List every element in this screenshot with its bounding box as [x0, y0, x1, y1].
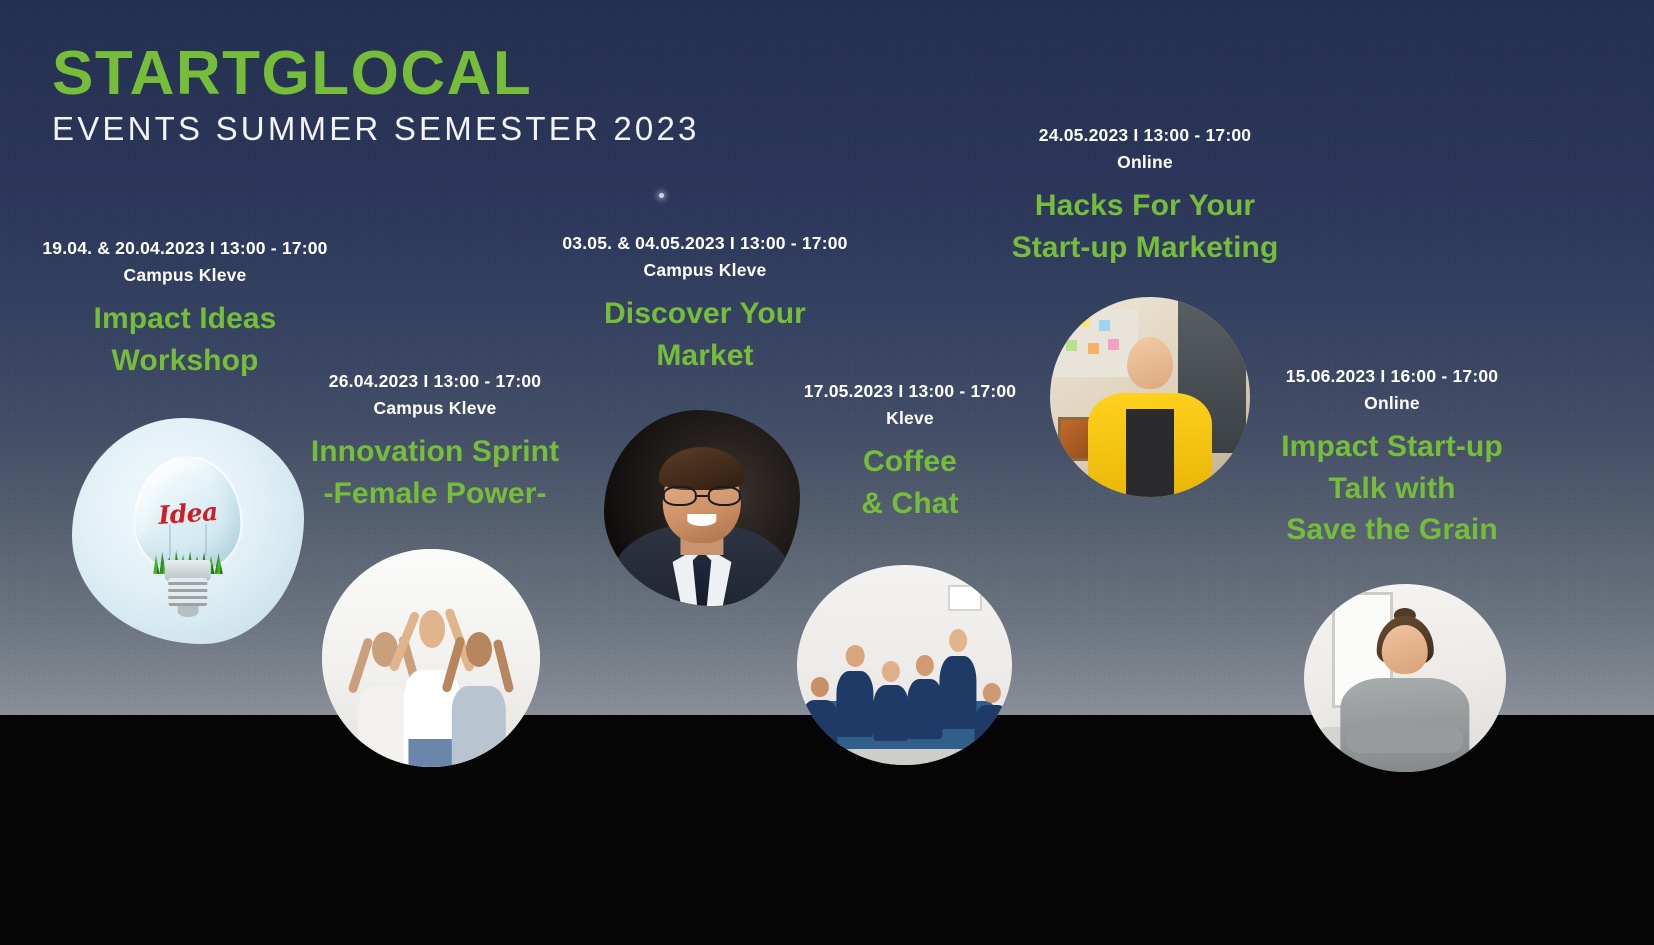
person-body	[940, 656, 977, 729]
brand-title: STARTGLOCAL	[52, 42, 700, 105]
sticky-note-board	[1054, 309, 1138, 377]
person-figure	[939, 629, 978, 729]
event-title: Discover Your Market	[535, 293, 875, 376]
person-body	[907, 679, 942, 739]
event-title-line: & Chat	[740, 483, 1080, 524]
person-head	[810, 677, 828, 697]
event-location: Campus Kleve	[265, 395, 605, 422]
person-head	[1382, 625, 1428, 674]
poster-header: STARTGLOCAL EVENTS SUMMER SEMESTER 2023	[52, 42, 700, 148]
sticky-note	[1079, 316, 1090, 327]
bulb-idea-label: Idea	[157, 497, 218, 530]
person-body	[974, 705, 1009, 749]
wall-picture-frame	[948, 585, 982, 611]
event-location: Campus Kleve	[15, 262, 355, 289]
bulb-tip-shape	[178, 606, 199, 617]
event-title-line: Impact Start-up	[1222, 426, 1562, 467]
event-title: Coffee & Chat	[740, 441, 1080, 524]
sticky-note	[1061, 317, 1072, 328]
bulb-filament-shape	[169, 524, 206, 556]
person-figure	[973, 683, 1010, 749]
event-impact-ideas-workshop[interactable]: 19.04. & 20.04.2023 I 13:00 - 17:00 Camp…	[15, 235, 355, 381]
event-title-line: Impact Ideas	[15, 298, 355, 339]
floor-shape	[797, 749, 1012, 765]
event-title-line: Hacks For Your	[975, 185, 1315, 226]
event-coffee-and-chat[interactable]: 17.05.2023 I 13:00 - 17:00 Kleve Coffee …	[740, 378, 1080, 524]
person-head	[916, 655, 934, 676]
event-location: Online	[1222, 390, 1562, 417]
person-hair	[659, 447, 745, 490]
sticky-note	[1088, 343, 1099, 354]
bulb-base-shape	[168, 578, 207, 607]
woman-grey-sweater-photo	[1304, 584, 1506, 772]
event-datetime: 15.06.2023 I 16:00 - 17:00	[1222, 363, 1562, 390]
person-grey-sweater	[1340, 678, 1469, 772]
event-title-line: Innovation Sprint	[265, 431, 605, 472]
woman-yellow-blazer-photo	[1050, 297, 1250, 497]
person-smile	[687, 514, 716, 526]
event-title-line: Start-up Marketing	[975, 227, 1315, 268]
event-datetime: 17.05.2023 I 13:00 - 17:00	[740, 378, 1080, 405]
person-body	[802, 700, 837, 745]
person-figure	[451, 632, 508, 767]
sticky-note	[1066, 340, 1077, 351]
person-body	[873, 685, 908, 741]
event-datetime: 03.05. & 04.05.2023 I 13:00 - 17:00	[535, 230, 875, 257]
event-title-line: -Female Power-	[265, 473, 605, 514]
event-title-line: Coffee	[740, 441, 1080, 482]
event-poster: STARTGLOCAL EVENTS SUMMER SEMESTER 2023 …	[0, 0, 1654, 945]
event-discover-your-market[interactable]: 03.05. & 04.05.2023 I 13:00 - 17:00 Camp…	[535, 230, 875, 376]
event-hacks-startup-marketing[interactable]: 24.05.2023 I 13:00 - 17:00 Online Hacks …	[975, 122, 1315, 268]
sticky-note	[1099, 320, 1110, 331]
person-crossed-arms	[1346, 727, 1463, 753]
person-head	[846, 645, 865, 667]
event-title-line: Market	[535, 335, 875, 376]
person-figure	[872, 661, 909, 741]
event-location: Campus Kleve	[535, 257, 875, 284]
event-title-line: Discover Your	[535, 293, 875, 334]
event-title: Hacks For Your Start-up Marketing	[975, 185, 1315, 268]
team-group-photo	[797, 565, 1012, 765]
event-title-line: Talk with	[1222, 468, 1562, 509]
person-head	[419, 610, 445, 648]
person-shorts	[409, 739, 456, 767]
sticky-note	[1108, 339, 1119, 350]
person-figure	[836, 645, 875, 737]
event-title-line: Save the Grain	[1222, 509, 1562, 550]
event-innovation-sprint[interactable]: 26.04.2023 I 13:00 - 17:00 Campus Kleve …	[265, 368, 605, 514]
person-head	[881, 661, 899, 682]
star-icon	[659, 193, 664, 198]
event-title: Innovation Sprint -Female Power-	[265, 431, 605, 514]
person-head	[1127, 337, 1173, 389]
event-datetime: 19.04. & 20.04.2023 I 13:00 - 17:00	[15, 235, 355, 262]
glasses-icon	[663, 486, 741, 506]
poster-subtitle: EVENTS SUMMER SEMESTER 2023	[52, 111, 700, 147]
three-women-cheering-photo	[322, 549, 540, 767]
person-body	[836, 671, 873, 737]
event-title: Impact Start-up Talk with Save the Grain	[1222, 426, 1562, 550]
person-head	[982, 683, 1000, 703]
person-figure	[801, 677, 838, 745]
person-top	[1126, 409, 1174, 497]
event-location: Online	[975, 149, 1315, 176]
person-figure	[907, 655, 944, 739]
event-datetime: 24.05.2023 I 13:00 - 17:00	[975, 122, 1315, 149]
event-impact-startup-talk[interactable]: 15.06.2023 I 16:00 - 17:00 Online Impact…	[1222, 363, 1562, 550]
event-location: Kleve	[740, 405, 1080, 432]
person-body	[452, 686, 506, 767]
person-head	[466, 632, 492, 667]
person-head	[949, 629, 967, 652]
